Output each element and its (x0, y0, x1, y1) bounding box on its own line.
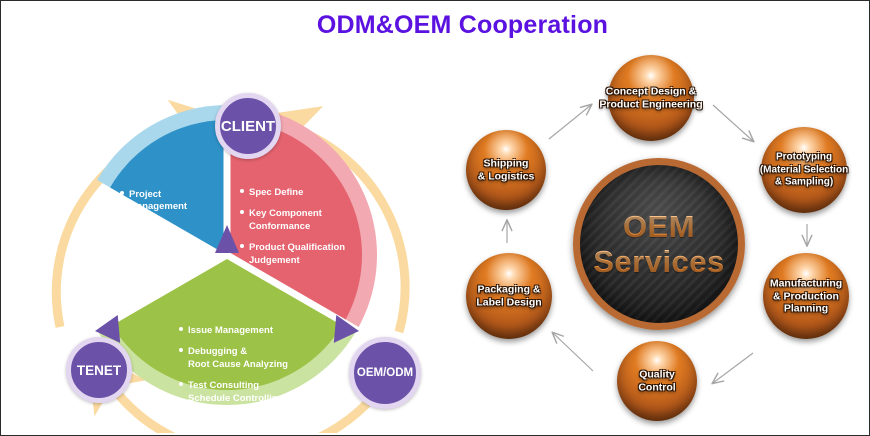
node-client-label: CLIENT (221, 118, 275, 135)
arrow-concept-to-prototyping (713, 105, 753, 141)
bullet-icon (179, 382, 183, 386)
list-item: Spec Define (240, 187, 345, 199)
node-oem-odm-label: OEM/ODM (357, 367, 413, 379)
bullet-icon (120, 259, 124, 263)
list-item: Debugging &Root Cause Analyzing (179, 346, 288, 371)
oem-services-diagram: OEM Services Concept Design & Product En… (441, 31, 867, 433)
step-quality-control-label: Quality Control (638, 369, 675, 394)
node-tenet[interactable]: TENET (66, 337, 132, 403)
oem-core-line2: Services (593, 244, 725, 279)
step-shipping-logistics-label: Shipping & Logistics (478, 158, 535, 183)
bullet-icon (179, 327, 183, 331)
bullet-icon (120, 225, 124, 229)
segment-text-red: Spec Define Key ComponentConformance Pro… (240, 187, 345, 267)
step-manufacturing-label: Manufacturing & Production Planning (770, 277, 842, 315)
segment-text-blue: ProjectManagement Test PlanDeveloping Qu… (120, 189, 187, 281)
cooperation-cycle-diagram: ProjectManagement Test PlanDeveloping Qu… (19, 37, 439, 433)
arrow-manufacturing-to-quality (713, 353, 753, 383)
step-prototyping-label: Prototyping (Material Selection & Sampli… (760, 151, 848, 189)
list-item: Test PlanDeveloping (120, 223, 187, 248)
screenshot-canvas: ODM&OEM Cooperation (0, 0, 870, 436)
list-item: Product QualificationJudgement (240, 242, 345, 267)
list-item: Issue Management (179, 325, 288, 337)
step-shipping-logistics[interactable]: Shipping & Logistics (466, 130, 546, 210)
step-packaging-label-design[interactable]: Packaging & Label Design (466, 253, 552, 339)
step-quality-control[interactable]: Quality Control (617, 341, 697, 421)
arrow-shipping-to-concept (549, 105, 591, 139)
list-item: Key ComponentConformance (240, 208, 345, 233)
step-packaging-label-design-label: Packaging & Label Design (476, 284, 541, 309)
node-oem-odm[interactable]: OEM/ODM (349, 337, 421, 409)
arrow-quality-to-packaging (553, 333, 593, 371)
bullet-icon (240, 244, 244, 248)
oem-services-core: OEM Services (573, 158, 745, 330)
bullet-icon (240, 210, 244, 214)
bullet-icon (120, 191, 124, 195)
node-client[interactable]: CLIENT (215, 93, 281, 159)
segment-text-green: Issue Management Debugging &Root Cause A… (179, 325, 288, 405)
list-item: ProjectManagement (120, 189, 187, 214)
bullet-icon (240, 189, 244, 193)
list-item: Test ConsultingSchedule Controlling (179, 380, 288, 405)
list-item: QualityControlling (120, 257, 187, 282)
step-prototyping[interactable]: Prototyping (Material Selection & Sampli… (761, 127, 847, 213)
step-manufacturing[interactable]: Manufacturing & Production Planning (763, 253, 849, 339)
bullet-icon (179, 348, 183, 352)
node-tenet-label: TENET (77, 363, 121, 378)
step-concept-design-label: Concept Design & Product Engineering (599, 86, 702, 111)
oem-core-line1: OEM (623, 209, 695, 244)
step-concept-design[interactable]: Concept Design & Product Engineering (608, 55, 694, 141)
